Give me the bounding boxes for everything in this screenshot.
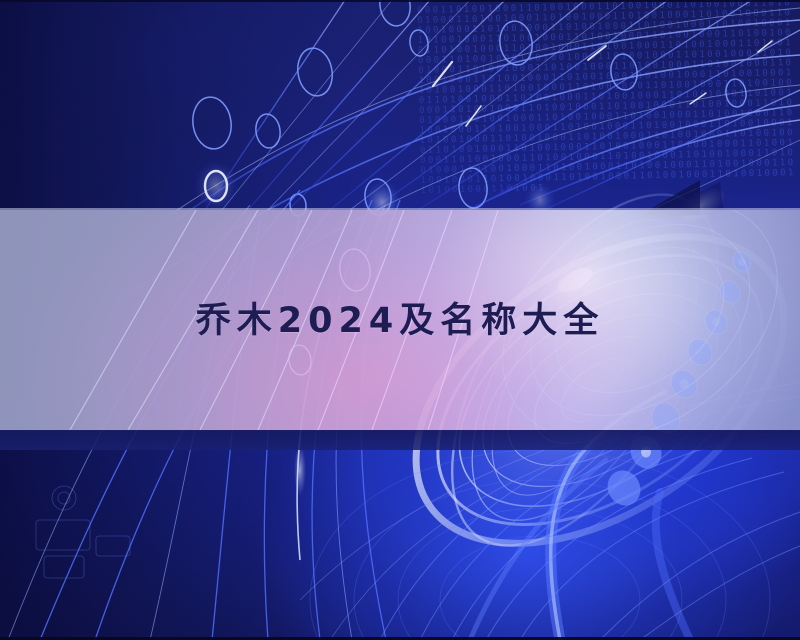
title-container: 乔木2024及名称大全	[0, 290, 800, 352]
page-title: 乔木2024及名称大全	[196, 304, 604, 339]
tech-banner-image: 0001101001000110100100011010010001101001…	[0, 0, 800, 640]
top-edge-line	[0, 0, 800, 2]
dark-divider-strip	[0, 430, 800, 450]
